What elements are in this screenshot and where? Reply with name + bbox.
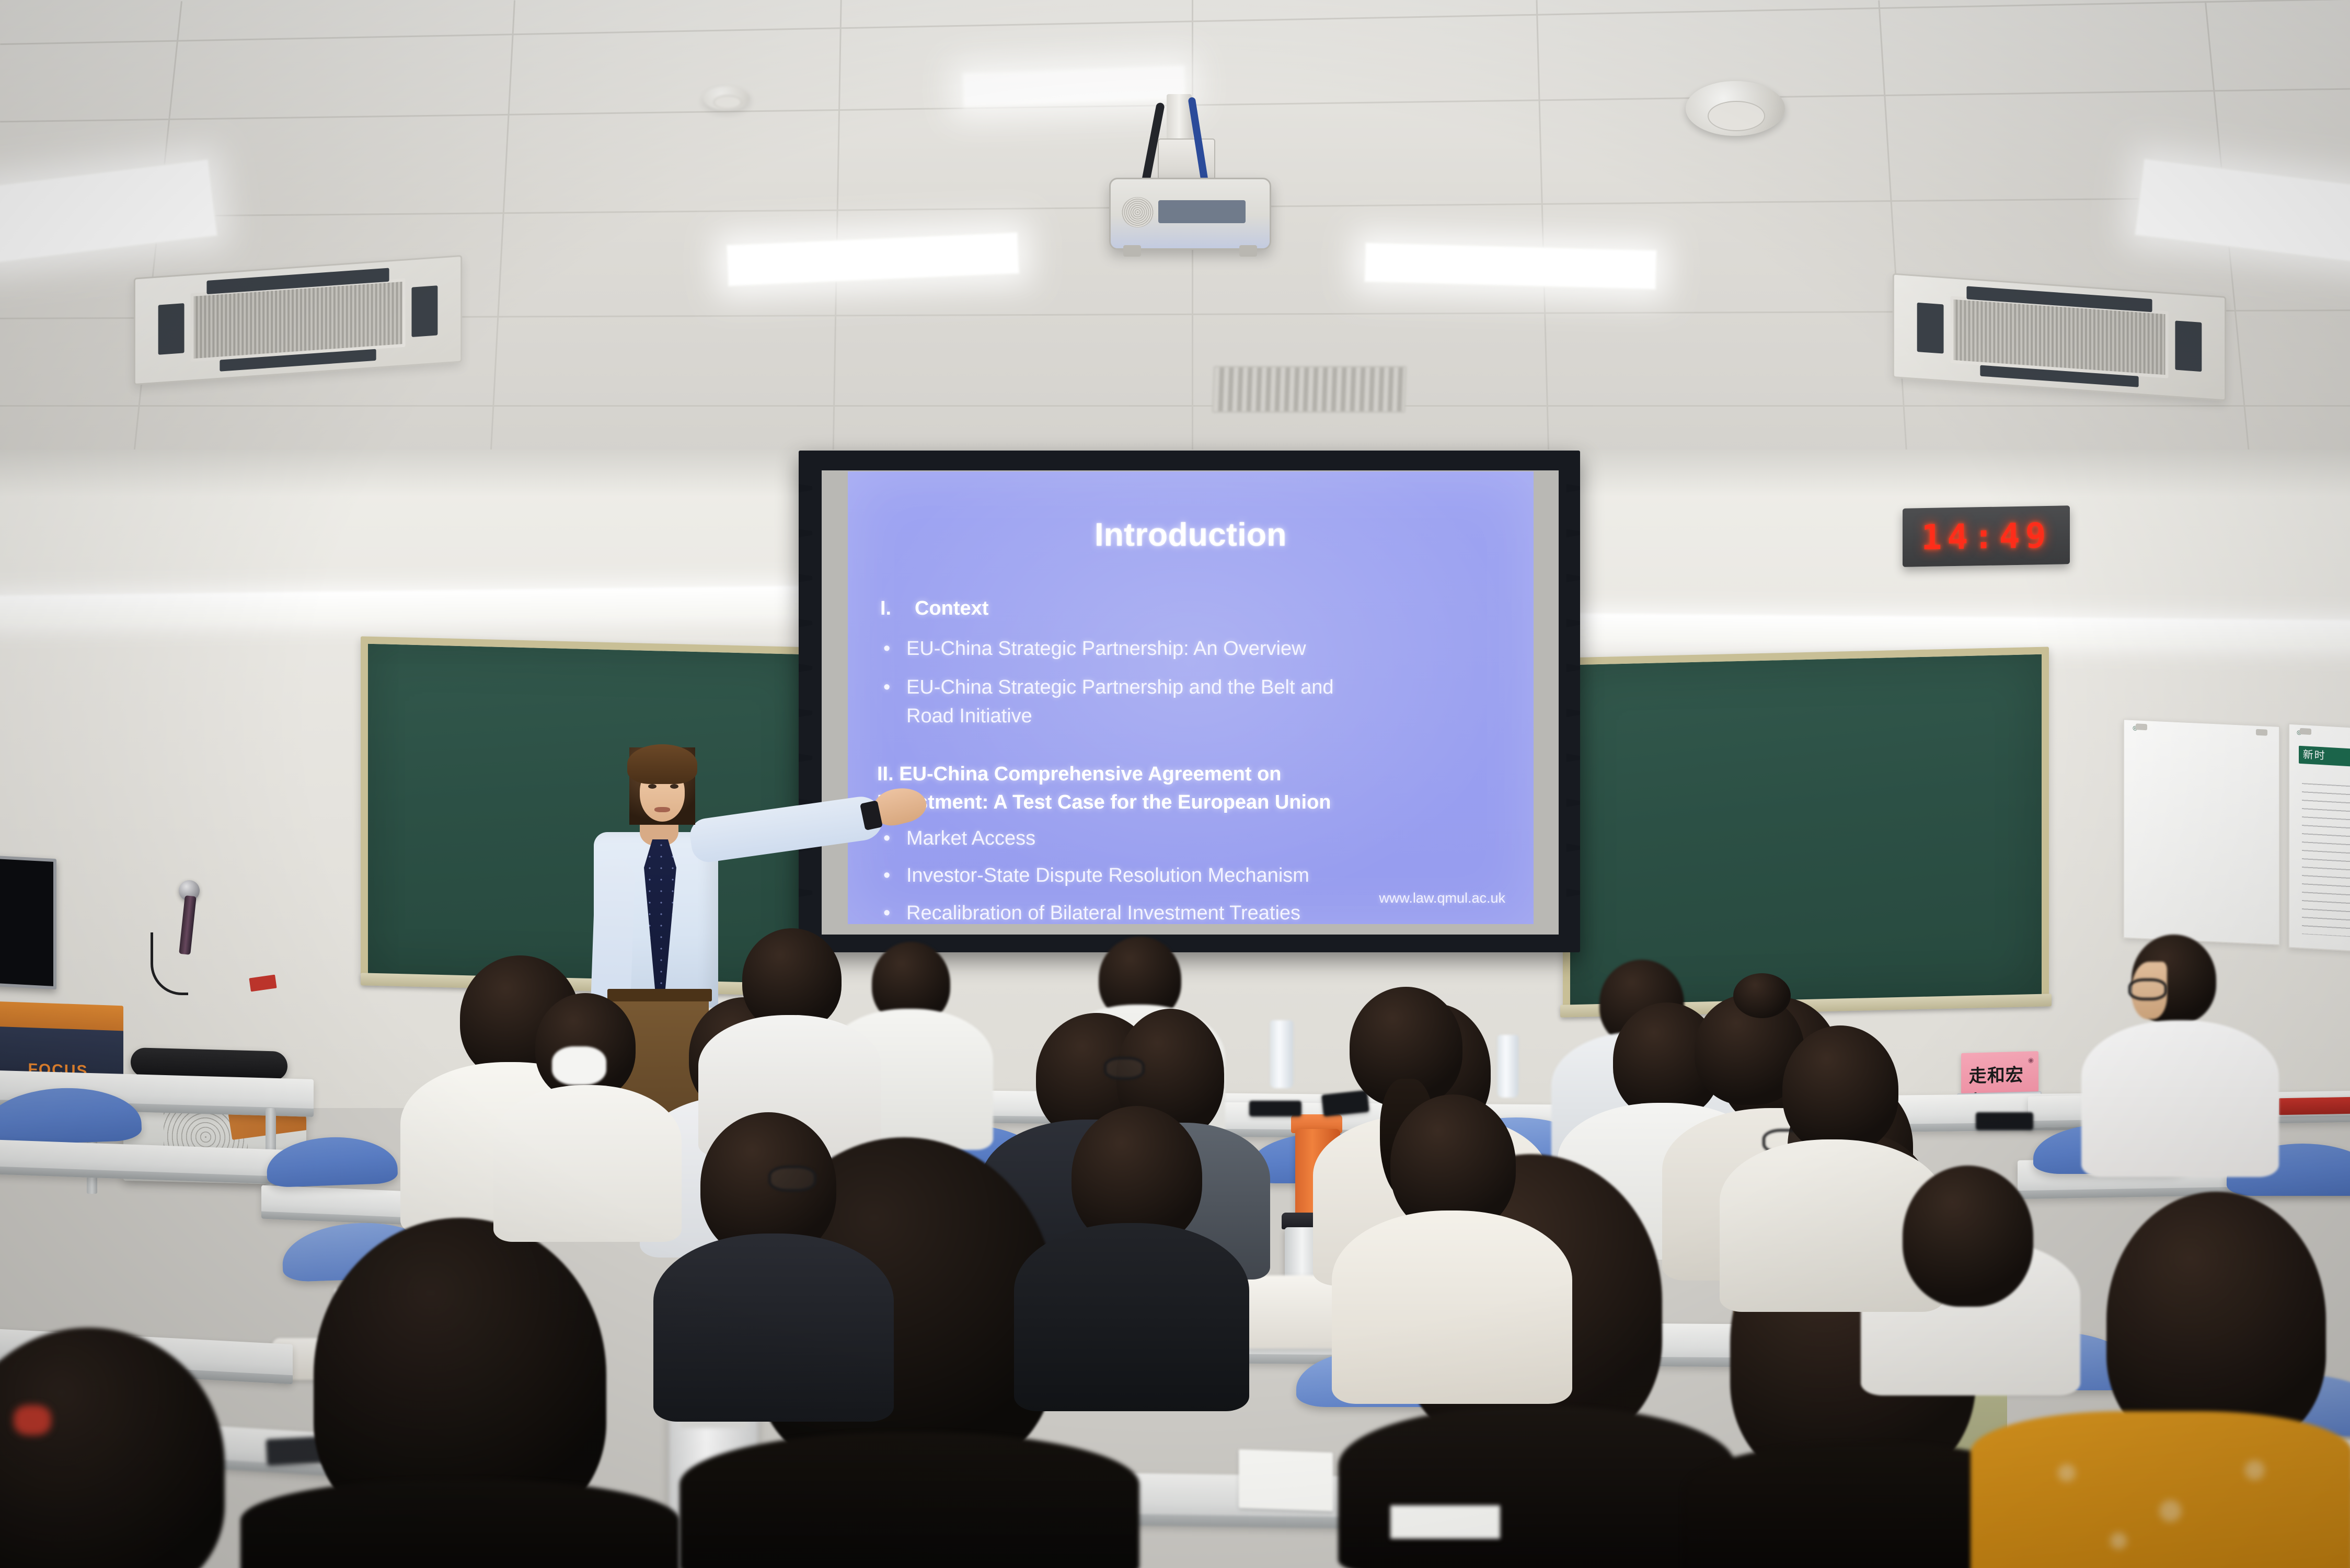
- paper-sheet: [1390, 1505, 1500, 1539]
- ceiling-air-vent: [1212, 366, 1407, 413]
- presenter-belt: [607, 989, 712, 1001]
- face-mask: [552, 1046, 606, 1085]
- student-head: [1903, 1166, 2033, 1307]
- slide-bullet: • EU-China Strategic Partnership: An Ove…: [883, 635, 1534, 663]
- bullet-icon: •: [883, 635, 906, 663]
- floral-pattern: [2002, 1432, 2326, 1568]
- ceiling-ac-left: [134, 255, 462, 385]
- presenter-eye: [670, 784, 678, 789]
- section-one-number: I.: [880, 594, 915, 623]
- smartphone: [1249, 1101, 1301, 1116]
- slide-bullet: • Investor-State Dispute Resolution Mech…: [883, 861, 1534, 890]
- slide-title: Introduction: [848, 516, 1534, 554]
- foreground-student-torso: [679, 1432, 1139, 1568]
- ceiling-light-panel: [1364, 242, 1657, 291]
- red-hair-clip: [14, 1405, 51, 1435]
- screen-tension-tabs-right: [1566, 451, 1580, 952]
- presenter-hair: [627, 744, 697, 784]
- student-glasses-icon: [768, 1166, 816, 1192]
- slide-bullet-text: Market Access: [906, 824, 1035, 853]
- smoke-detector-icon: [1686, 81, 1785, 136]
- slide-bullet: • EU-China Strategic Partnership and the…: [883, 673, 1534, 731]
- slide-bullet-text: Investor-State Dispute Resolution Mechan…: [906, 861, 1309, 890]
- foreground-student-torso: [240, 1479, 679, 1568]
- ceiling-projector: [1109, 178, 1271, 250]
- chalkboard-right: [1563, 647, 2049, 1013]
- digital-wall-clock: 14:49: [1903, 505, 2070, 567]
- notice-board-heading: 新时: [2299, 749, 2326, 762]
- bullet-icon: •: [883, 861, 906, 890]
- bullet-icon: •: [883, 673, 906, 702]
- slide-footer-url: www.law.qmul.ac.uk: [1379, 890, 1505, 906]
- foreground-student-torso: [1338, 1406, 1735, 1568]
- slide-bullet-text: EU-China Strategic Partnership and the B…: [906, 673, 1366, 731]
- student-torso: [653, 1233, 894, 1422]
- clock-time: 14:49: [1921, 515, 2052, 557]
- student-glasses-icon: [1104, 1057, 1145, 1080]
- smoke-detector-icon: [703, 86, 750, 110]
- tissue-box: [1239, 1449, 1333, 1511]
- lecture-hall-photo: Introduction I. Context • EU-China Strat…: [0, 0, 2350, 1568]
- clear-water-bottle: [1270, 1020, 1293, 1088]
- notice-board-left: ◎: [2123, 719, 2280, 946]
- student-hair-bun: [1733, 973, 1791, 1018]
- attendee-glasses-icon: [2128, 978, 2167, 1000]
- foreground-student-head: [2106, 1192, 2326, 1448]
- clear-water-bottle: [1497, 1035, 1518, 1098]
- red-book: [2279, 1097, 2350, 1115]
- slide-bullet: • Market Access: [883, 824, 1534, 853]
- student-head: [1782, 1025, 1898, 1153]
- slide-bullet-text: Recalibration of Bilateral Investment Tr…: [906, 899, 1300, 924]
- ceiling-light-panel: [961, 64, 1187, 109]
- lectern-monitor: [0, 856, 56, 989]
- name-placard: ◉ 走和宏友: [1961, 1051, 2038, 1094]
- student-torso: [1014, 1223, 1249, 1411]
- attendee-torso: [2081, 1020, 2279, 1177]
- slide-body: I. Context • EU-China Strategic Partners…: [880, 594, 1534, 924]
- presenter-eye: [648, 784, 656, 789]
- section-one-label: Context: [915, 594, 988, 623]
- placard-text: 走和宏友: [1969, 1060, 2038, 1094]
- section-two-heading: II. EU-China Comprehensive Agreement on …: [877, 760, 1389, 817]
- smartphone: [1976, 1112, 2033, 1130]
- screen-tension-tabs-left: [799, 451, 812, 952]
- presenter-mouth: [654, 807, 670, 812]
- slide-bullet-text: EU-China Strategic Partnership: An Overv…: [906, 635, 1306, 663]
- student-torso: [1332, 1210, 1572, 1404]
- bullet-icon: •: [883, 899, 906, 924]
- bullet-icon: •: [883, 824, 906, 853]
- presentation-slide: Introduction I. Context • EU-China Strat…: [848, 471, 1534, 924]
- notice-board-right: ◎ 新时: [2288, 723, 2350, 957]
- student-torso: [493, 1085, 682, 1242]
